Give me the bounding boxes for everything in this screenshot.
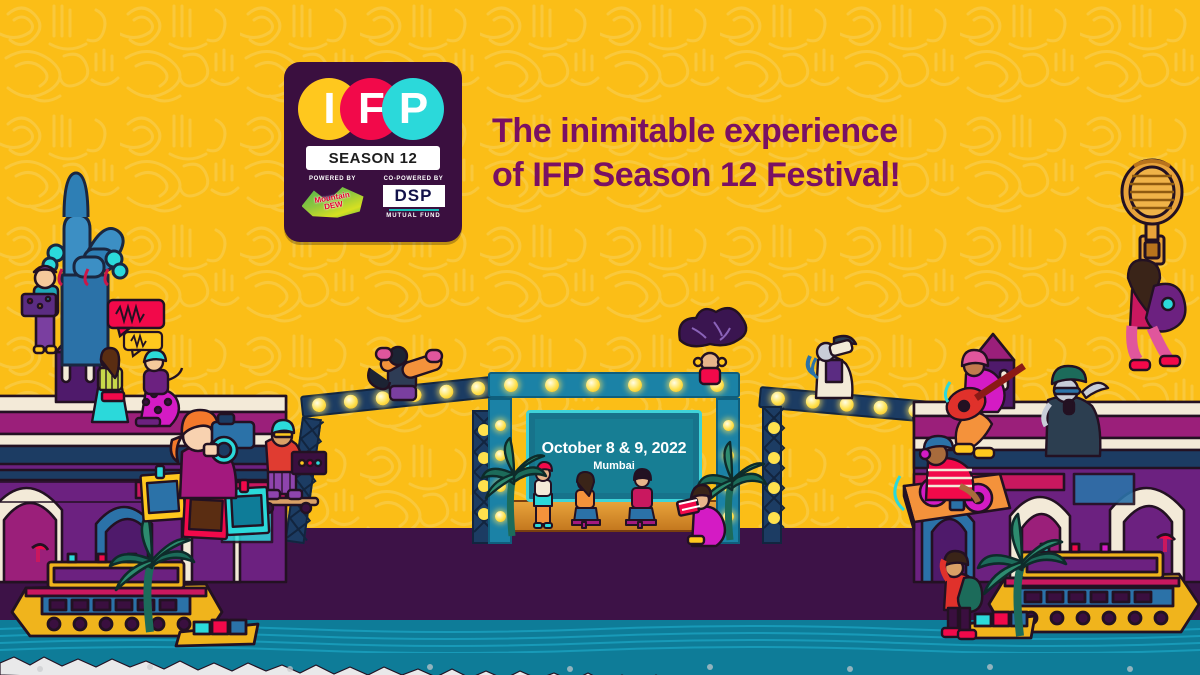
festival-banner: October 8 & 9, 2022 Mumbai [0,0,1200,675]
dsp-divider [389,209,439,211]
screen-date: October 8 & 9, 2022 [542,440,687,458]
headline-line-1: The inimitable experience [492,112,898,150]
dsp-logo: DSP MUTUAL FUND [383,185,445,219]
headline-line-2: of IFP Season 12 Festival! [492,154,1012,198]
ifp-logo-card[interactable]: I F P SEASON 12 POWERED BY Mountain DEW [284,62,462,242]
stage-bulb [311,397,326,412]
hiker-with-backpack [930,548,986,644]
stage-bulb [771,391,786,406]
person-with-megaphone [796,332,868,398]
stage-bulb [343,394,358,409]
stage-bulb [839,397,854,412]
sponsor-row: POWERED BY Mountain DEW CO-POWERED BY DS… [292,176,454,234]
person-with-banner [14,258,74,356]
stage-bulb [628,378,642,392]
season-badge: SEASON 12 [306,146,440,170]
stage-bulb [873,400,888,415]
stage-bulb [495,420,506,431]
palm-tree-center-left [478,432,550,536]
dancer-on-truss [362,342,446,404]
mountain-dew-logo: Mountain DEW [302,185,364,219]
dj-performer [912,436,990,510]
sponsor-label-copowered: CO-POWERED BY [373,176,454,182]
stage-bulb [586,378,600,392]
logo-letter-p: P [382,78,444,140]
stage-bulb [504,378,518,392]
stage-bulb [723,420,734,431]
sponsor-powered-by: POWERED BY Mountain DEW [292,176,373,234]
person-with-clapperboard [676,484,738,546]
videographer-with-camera [168,402,262,498]
performer-seated-a [566,472,608,528]
sponsor-label-powered: POWERED BY [292,176,373,182]
ifp-logo-circles: I F P [298,78,448,140]
performer-seated-b [620,468,664,528]
stage-bulb [545,378,559,392]
rapper-with-mic [1030,364,1116,456]
big-hair-performer [674,314,750,384]
dsp-wordmark: DSP [383,185,445,207]
dsp-subtitle: MUTUAL FUND [383,213,445,219]
stage-bulb [470,381,485,396]
sponsor-co-powered-by: CO-POWERED BY DSP MUTUAL FUND [373,176,454,234]
speech-bubble-yellow [122,330,166,358]
logo-circle-p: P [382,78,444,140]
light-truss-left [300,396,496,546]
woman-with-backpack [1110,256,1194,376]
headline: The inimitable experience of IFP Season … [492,110,1012,197]
rock-shoreline [0,653,1200,675]
